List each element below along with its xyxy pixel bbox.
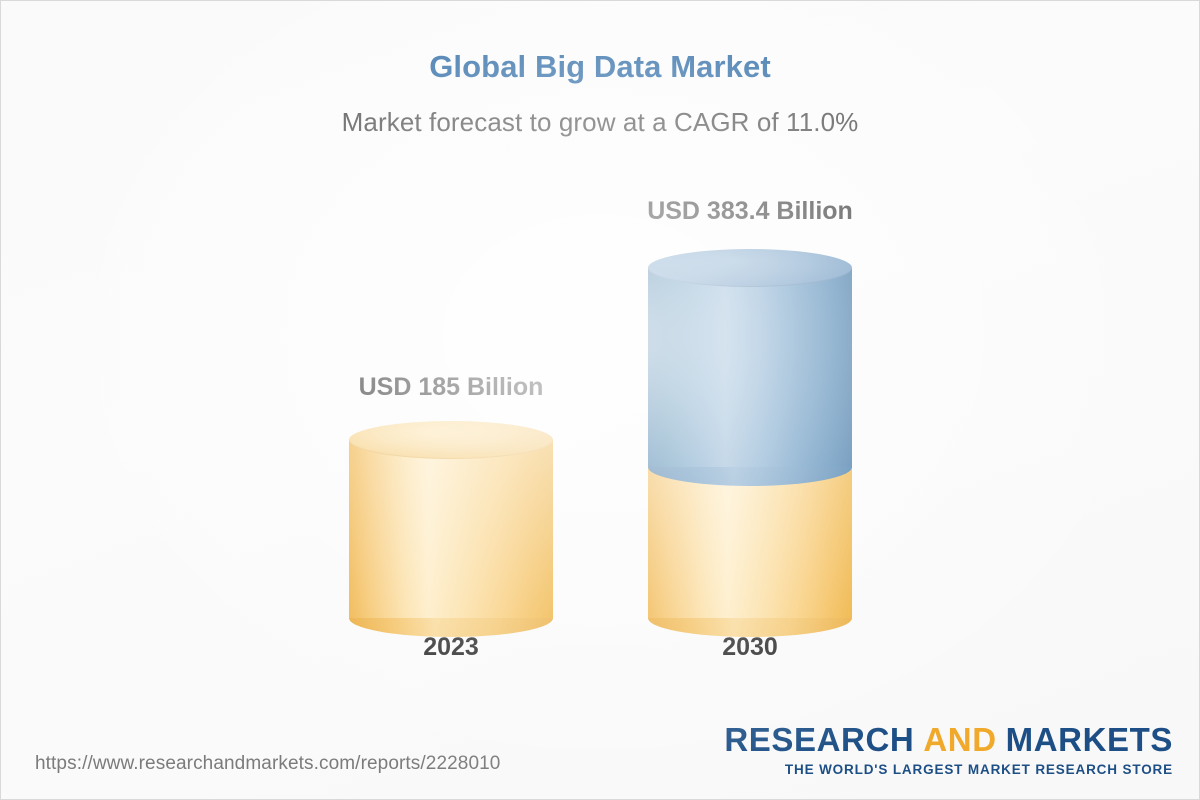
category-label-2023: 2023	[423, 633, 479, 662]
cylinder-body-blue-2030	[648, 268, 852, 467]
cylinder-2023	[349, 421, 553, 618]
research-and-markets-logo[interactable]: RESEARCHANDMARKETS THE WORLD'S LARGEST M…	[724, 723, 1173, 777]
cylinder-body-2023	[349, 440, 553, 618]
cylinder-2030	[648, 249, 852, 618]
logo-word-markets: MARKETS	[1006, 721, 1173, 758]
logo-tagline: THE WORLD'S LARGEST MARKET RESEARCH STOR…	[724, 763, 1173, 777]
cylinder-top-ellipse-2023	[349, 421, 553, 459]
cylinder-segment-growth-2030	[648, 249, 852, 467]
logo-word-and: AND	[923, 721, 996, 758]
logo-word-research: RESEARCH	[724, 721, 914, 758]
chart-canvas: Global Big Data Market Market forecast t…	[0, 0, 1200, 800]
source-url[interactable]: https://www.researchandmarkets.com/repor…	[35, 753, 500, 775]
cylinder-segment-base-2023	[349, 421, 553, 618]
cylinder-top-ellipse-2030	[648, 249, 852, 287]
value-label-2030: USD 383.4 Billion	[647, 197, 853, 226]
value-label-2023: USD 185 Billion	[359, 373, 544, 402]
plot-area: USD 185 Billion 2023 USD 383.4 Billion	[1, 1, 1200, 800]
logo-wordmark: RESEARCHANDMARKETS	[724, 723, 1173, 756]
category-label-2030: 2030	[722, 633, 778, 662]
